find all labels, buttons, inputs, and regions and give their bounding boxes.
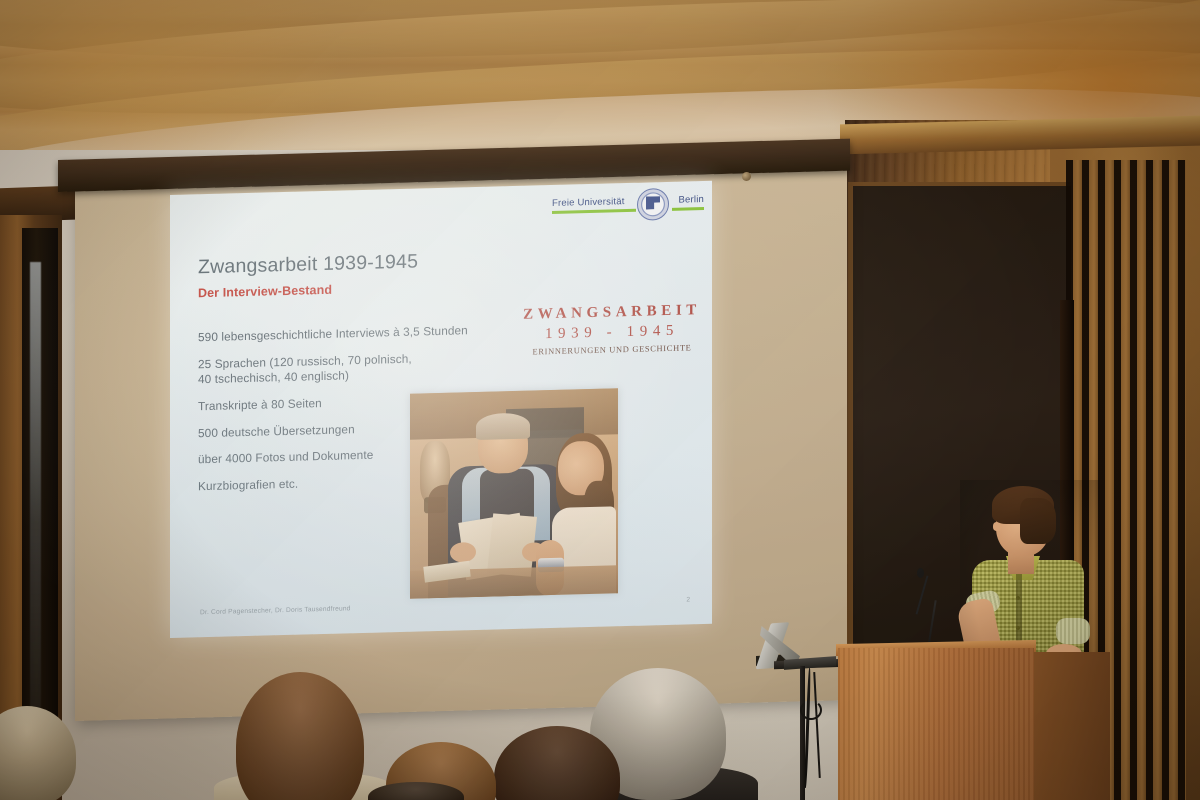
bullet-line-1: 500 deutsche Übersetzungen [198, 422, 355, 440]
lectern-side-panel [1034, 652, 1110, 800]
slide-page-number: 2 [686, 596, 690, 603]
cable-loop [800, 700, 822, 720]
fu-berlin-seal-icon [637, 188, 669, 221]
bullet-line-1: Transkripte à 80 Seiten [198, 396, 322, 413]
project-logo-line-3: ERINNERUNGEN UND GESCHICHTE [522, 343, 702, 357]
project-logo-line-2: 1939 - 1945 [522, 322, 702, 344]
left-window-glass [30, 262, 41, 732]
speaker-hair-back [1020, 498, 1056, 544]
ceiling-warm-light-left [0, 0, 340, 175]
slide-interview-photo [410, 388, 618, 598]
lectern-front-panel [838, 648, 1034, 800]
slide-footer-credits: Dr. Cord Pagenstecher, Dr. Doris Tausend… [200, 605, 351, 616]
microphone-head-icon [917, 568, 924, 578]
speaker-shirt-button [1016, 596, 1020, 600]
fu-logo-right-bar [672, 207, 704, 210]
speaker-shirt-button [1016, 626, 1020, 630]
project-logo-line-1: ZWANGSARBEIT [522, 302, 702, 324]
fu-logo-right-text: Berlin [679, 194, 705, 206]
zwangsarbeit-project-logo: ZWANGSARBEIT 1939 - 1945 ERINNERUNGEN UN… [522, 302, 702, 357]
speaker-right-cuff [1056, 618, 1090, 644]
slide-title: Zwangsarbeit 1939-1945 [198, 251, 418, 280]
bullet-line-1: Kurzbiografien etc. [198, 477, 298, 494]
fu-berlin-logo: Freie Universität Berlin [552, 188, 704, 225]
fu-logo-left-text: Freie Universität [552, 196, 625, 209]
lectern-wood-grain [838, 648, 1034, 800]
projected-slide: Freie Universität Berlin Zwangsarbeit 19… [170, 181, 712, 638]
slide-bullet-item: 590 lebensgeschichtliche Interviews à 3,… [198, 322, 498, 346]
bullet-line-1: über 4000 Fotos und Dokumente [198, 448, 373, 467]
fu-logo-left-bar [552, 209, 636, 214]
slide-bullet-item: 25 Sprachen (120 russisch, 70 polnisch, … [198, 349, 498, 388]
bullet-line-1: 590 lebensgeschichtliche Interviews à 3,… [198, 323, 468, 344]
presentation-photo-scene: Freie Universität Berlin Zwangsarbeit 19… [0, 0, 1200, 800]
photo-warm-overlay [410, 388, 618, 598]
slide-subtitle: Der Interview-Bestand [198, 283, 332, 301]
